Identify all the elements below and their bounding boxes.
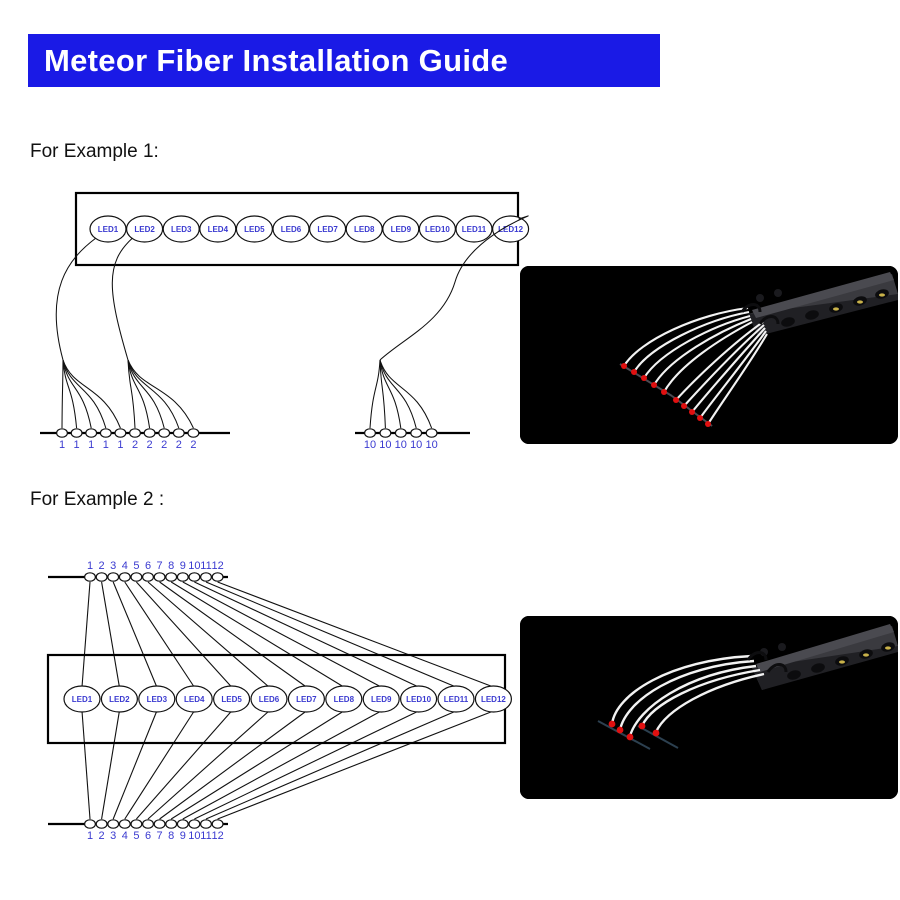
port-circle bbox=[212, 820, 223, 828]
led-node[interactable]: LED2 bbox=[101, 686, 137, 712]
port-circle bbox=[189, 573, 200, 581]
port-node[interactable]: 9 bbox=[177, 560, 188, 581]
diagram-example-1-svg: LED1LED2LED3LED4LED5LED6LED7LED8LED9LED1… bbox=[0, 170, 530, 470]
port-circle bbox=[173, 429, 184, 437]
port-circle bbox=[201, 573, 212, 581]
port-node[interactable]: 2 bbox=[130, 429, 141, 451]
port-node[interactable]: 10 bbox=[395, 429, 407, 451]
page-root: Meteor Fiber Installation Guide For Exam… bbox=[0, 0, 900, 900]
port-label: 8 bbox=[168, 560, 174, 572]
port-circle bbox=[365, 429, 376, 437]
port-circle bbox=[130, 429, 141, 437]
fiber-strand bbox=[370, 360, 380, 428]
port-circle bbox=[108, 573, 119, 581]
port-circle bbox=[395, 429, 406, 437]
port-node[interactable]: 7 bbox=[154, 560, 165, 581]
port-label: 12 bbox=[211, 560, 223, 572]
led-node[interactable]: LED8 bbox=[326, 686, 362, 712]
photo-example-2-svg bbox=[520, 616, 898, 799]
fiber-link-bottom bbox=[148, 711, 269, 819]
port-label: 7 bbox=[157, 830, 163, 842]
port-circle bbox=[166, 573, 177, 581]
diagram-example-1: LED1LED2LED3LED4LED5LED6LED7LED8LED9LED1… bbox=[0, 170, 530, 470]
port-circle bbox=[426, 429, 437, 437]
port-circle bbox=[131, 573, 142, 581]
fiber-strand bbox=[380, 360, 432, 428]
fiber-link-top bbox=[102, 582, 120, 687]
port-node[interactable]: 2 bbox=[159, 429, 170, 451]
port-node[interactable]: 5 bbox=[131, 820, 142, 842]
port-label: 1 bbox=[103, 439, 109, 451]
port-node[interactable]: 1 bbox=[85, 820, 96, 842]
port-circle bbox=[411, 429, 422, 437]
port-node[interactable]: 10 bbox=[425, 429, 437, 451]
port-label: 8 bbox=[168, 830, 174, 842]
port-node[interactable]: 2 bbox=[144, 429, 155, 451]
led-node[interactable]: LED11 bbox=[438, 686, 474, 712]
title-banner: Meteor Fiber Installation Guide bbox=[28, 34, 660, 87]
diagram-example-2-svg: LED1LED2LED3LED4LED5LED6LED7LED8LED9LED1… bbox=[0, 540, 530, 850]
port-node[interactable]: 1 bbox=[71, 429, 82, 451]
port-circle bbox=[96, 820, 107, 828]
port-circle bbox=[85, 820, 96, 828]
led-group: LED1LED2LED3LED4LED5LED6LED7LED8LED9LED1… bbox=[90, 216, 529, 242]
fiber-bundle bbox=[370, 216, 528, 428]
port-node[interactable]: 2 bbox=[173, 429, 184, 451]
port-label: 11 bbox=[200, 830, 211, 842]
port-label: 2 bbox=[99, 830, 105, 842]
port-label: 2 bbox=[147, 439, 153, 451]
led-node[interactable]: LED3 bbox=[139, 686, 175, 712]
led-node[interactable]: LED9 bbox=[363, 686, 399, 712]
fiber-lead bbox=[56, 238, 96, 360]
port-node[interactable]: 5 bbox=[131, 560, 142, 581]
port-circle bbox=[131, 820, 142, 828]
port-circle bbox=[189, 820, 200, 828]
port-circle bbox=[119, 820, 130, 828]
port-label: 1 bbox=[59, 439, 65, 451]
led-label: LED8 bbox=[354, 225, 375, 234]
port-circle bbox=[177, 573, 188, 581]
port-label: 9 bbox=[180, 830, 186, 842]
port-circle bbox=[380, 429, 391, 437]
led-label: LED9 bbox=[371, 695, 392, 704]
port-label: 2 bbox=[132, 439, 138, 451]
port-node[interactable]: 2 bbox=[96, 560, 107, 581]
port-label: 10 bbox=[395, 439, 407, 451]
led-label: LED8 bbox=[334, 695, 355, 704]
fiber-link-top bbox=[206, 582, 456, 687]
led-label: LED10 bbox=[425, 225, 450, 234]
port-label: 2 bbox=[99, 560, 105, 572]
port-node[interactable]: 2 bbox=[188, 429, 199, 451]
port-group-bottom: 123456789101112 bbox=[85, 820, 224, 842]
port-node[interactable]: 12 bbox=[211, 560, 223, 581]
port-node[interactable]: 4 bbox=[119, 560, 130, 581]
port-label: 1 bbox=[87, 830, 93, 842]
photo-example-1 bbox=[520, 266, 898, 444]
led-label: LED10 bbox=[406, 695, 431, 704]
led-label: LED1 bbox=[72, 695, 93, 704]
port-circle bbox=[100, 429, 111, 437]
fiber-strand bbox=[63, 360, 106, 428]
port-label: 7 bbox=[157, 560, 163, 572]
fiber-link-bottom bbox=[218, 711, 494, 819]
led-label: LED11 bbox=[462, 225, 487, 234]
port-label: 10 bbox=[410, 439, 422, 451]
port-node[interactable]: 4 bbox=[119, 820, 130, 842]
port-node[interactable]: 7 bbox=[154, 820, 165, 842]
port-node[interactable]: 1 bbox=[115, 429, 126, 451]
led-label: LED11 bbox=[444, 695, 469, 704]
port-node[interactable]: 1 bbox=[100, 429, 111, 451]
port-circle bbox=[166, 820, 177, 828]
photo-example-2 bbox=[520, 616, 898, 799]
fiber-link-bottom bbox=[206, 711, 456, 819]
port-circle bbox=[143, 820, 154, 828]
led-node[interactable]: LED5 bbox=[236, 216, 272, 242]
port-circle bbox=[71, 429, 82, 437]
fiber-link-bottom bbox=[102, 711, 120, 819]
led-label: LED4 bbox=[184, 695, 205, 704]
led-label: LED7 bbox=[296, 695, 317, 704]
fiber-link-bottom bbox=[160, 711, 307, 819]
port-node[interactable]: 6 bbox=[143, 560, 154, 581]
port-label: 10 bbox=[188, 560, 200, 572]
port-node[interactable]: 3 bbox=[108, 820, 119, 842]
port-node[interactable]: 1 bbox=[57, 429, 68, 451]
port-node[interactable]: 10 bbox=[188, 560, 200, 581]
led-label: LED6 bbox=[281, 225, 302, 234]
led-label: LED2 bbox=[109, 695, 130, 704]
led-label: LED6 bbox=[259, 695, 280, 704]
port-node[interactable]: 11 bbox=[200, 820, 211, 842]
port-label: 1 bbox=[74, 439, 80, 451]
led-node[interactable]: LED4 bbox=[176, 686, 212, 712]
led-label: LED5 bbox=[244, 225, 265, 234]
led-label: LED1 bbox=[98, 225, 119, 234]
fiber-strand bbox=[63, 360, 120, 428]
port-circle bbox=[154, 573, 165, 581]
port-label: 4 bbox=[122, 560, 128, 572]
port-circle bbox=[115, 429, 126, 437]
led-node[interactable]: LED12 bbox=[475, 686, 511, 712]
port-node[interactable]: 10 bbox=[410, 429, 422, 451]
port-label: 5 bbox=[133, 560, 139, 572]
port-label: 2 bbox=[190, 439, 196, 451]
port-label: 2 bbox=[176, 439, 182, 451]
led-label: LED4 bbox=[208, 225, 229, 234]
led-label: LED5 bbox=[221, 695, 242, 704]
port-node[interactable]: 1 bbox=[85, 560, 96, 581]
led-node[interactable]: LED11 bbox=[456, 216, 492, 242]
port-circle bbox=[57, 429, 68, 437]
port-label: 10 bbox=[425, 439, 437, 451]
fiber-link-top bbox=[218, 582, 494, 687]
port-node[interactable]: 10 bbox=[188, 820, 200, 842]
port-node[interactable]: 8 bbox=[166, 560, 177, 581]
led-label: LED3 bbox=[171, 225, 192, 234]
led-node[interactable]: LED7 bbox=[310, 216, 346, 242]
port-label: 10 bbox=[364, 439, 376, 451]
fiber-link-top bbox=[183, 582, 381, 687]
port-label: 6 bbox=[145, 560, 151, 572]
page-title: Meteor Fiber Installation Guide bbox=[28, 43, 508, 79]
port-circle bbox=[86, 429, 97, 437]
port-circle bbox=[177, 820, 188, 828]
port-node[interactable]: 1 bbox=[86, 429, 97, 451]
port-circle bbox=[108, 820, 119, 828]
port-node[interactable]: 9 bbox=[177, 820, 188, 842]
led-node[interactable]: LED10 bbox=[419, 216, 455, 242]
port-label: 3 bbox=[110, 830, 116, 842]
fiber-lead bbox=[112, 238, 132, 360]
port-label: 10 bbox=[379, 439, 391, 451]
fiber-link-top bbox=[148, 582, 269, 687]
led-node[interactable]: LED6 bbox=[251, 686, 287, 712]
port-label: 4 bbox=[122, 830, 128, 842]
led-node[interactable]: LED5 bbox=[214, 686, 250, 712]
port-node[interactable]: 2 bbox=[96, 820, 107, 842]
port-node[interactable]: 10 bbox=[379, 429, 391, 451]
port-node[interactable]: 11 bbox=[200, 560, 211, 581]
port-label: 12 bbox=[211, 830, 223, 842]
fiber-link-top bbox=[82, 582, 90, 687]
led-label: LED12 bbox=[481, 695, 506, 704]
port-node[interactable]: 8 bbox=[166, 820, 177, 842]
section-heading-example-2: For Example 2 : bbox=[30, 489, 164, 511]
led-node[interactable]: LED3 bbox=[163, 216, 199, 242]
led-node[interactable]: LED9 bbox=[383, 216, 419, 242]
port-label: 1 bbox=[87, 560, 93, 572]
led-label: LED7 bbox=[317, 225, 338, 234]
fiber-link-bottom bbox=[194, 711, 418, 819]
led-node[interactable]: LED1 bbox=[64, 686, 100, 712]
led-node[interactable]: LED12 bbox=[493, 216, 529, 242]
port-circle bbox=[188, 429, 199, 437]
port-circle bbox=[143, 573, 154, 581]
port-label: 11 bbox=[200, 560, 211, 572]
fiber-link-top bbox=[160, 582, 307, 687]
led-node[interactable]: LED6 bbox=[273, 216, 309, 242]
led-node[interactable]: LED10 bbox=[401, 686, 437, 712]
fiber-bundle bbox=[56, 238, 120, 428]
led-node[interactable]: LED7 bbox=[288, 686, 324, 712]
led-group: LED1LED2LED3LED4LED5LED6LED7LED8LED9LED1… bbox=[64, 686, 511, 712]
fiber-link-bottom bbox=[82, 711, 90, 819]
section-heading-example-1: For Example 1: bbox=[30, 141, 159, 163]
fiber-strand bbox=[128, 360, 179, 428]
photo-example-1-svg bbox=[520, 266, 898, 444]
port-circle bbox=[212, 573, 223, 581]
port-label: 10 bbox=[188, 830, 200, 842]
port-label: 1 bbox=[117, 439, 123, 451]
port-circle bbox=[144, 429, 155, 437]
led-label: LED3 bbox=[147, 695, 168, 704]
led-label: LED2 bbox=[134, 225, 155, 234]
port-label: 1 bbox=[88, 439, 94, 451]
port-label: 5 bbox=[133, 830, 139, 842]
fiber-bundle-group bbox=[56, 216, 528, 428]
port-node[interactable]: 6 bbox=[143, 820, 154, 842]
port-label: 6 bbox=[145, 830, 151, 842]
diagram-example-2: LED1LED2LED3LED4LED5LED6LED7LED8LED9LED1… bbox=[0, 540, 530, 850]
fiber-link-top bbox=[194, 582, 418, 687]
led-label: LED9 bbox=[391, 225, 412, 234]
port-label: 3 bbox=[110, 560, 116, 572]
port-node[interactable]: 12 bbox=[211, 820, 223, 842]
port-node[interactable]: 3 bbox=[108, 560, 119, 581]
led-node[interactable]: LED4 bbox=[200, 216, 236, 242]
port-circle bbox=[85, 573, 96, 581]
fiber-bundle bbox=[112, 238, 193, 428]
fiber-strand bbox=[62, 360, 63, 428]
port-label: 2 bbox=[161, 439, 167, 451]
led-node[interactable]: LED8 bbox=[346, 216, 382, 242]
port-label: 9 bbox=[180, 560, 186, 572]
port-group-top: 123456789101112 bbox=[85, 560, 224, 581]
fiber-link-bottom bbox=[183, 711, 381, 819]
port-circle bbox=[119, 573, 130, 581]
port-circle bbox=[96, 573, 107, 581]
port-circle bbox=[154, 820, 165, 828]
port-node[interactable]: 10 bbox=[364, 429, 376, 451]
port-circle bbox=[159, 429, 170, 437]
port-circle bbox=[201, 820, 212, 828]
